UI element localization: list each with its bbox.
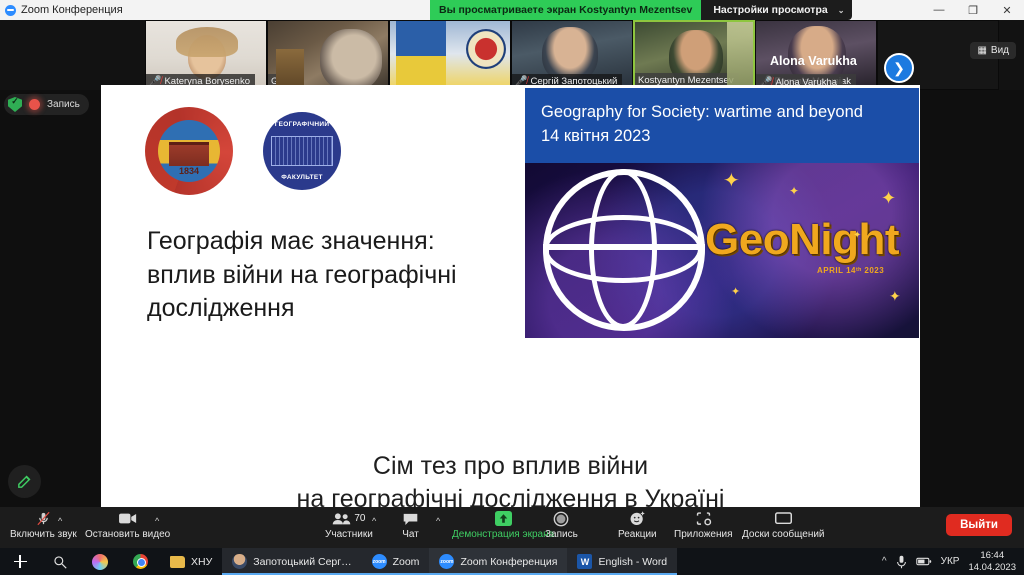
faculty-building-icon bbox=[271, 136, 333, 166]
video-thumbnail[interactable]: GEO bbox=[267, 20, 389, 90]
toolbar-button-reactions[interactable]: Реакции bbox=[618, 510, 657, 540]
window-controls: — ❐ ✕ bbox=[922, 0, 1024, 20]
video-thumbnail[interactable] bbox=[389, 20, 511, 90]
toolbar-button-mute[interactable]: Включить звук bbox=[10, 510, 77, 540]
participants-icon: 70 bbox=[332, 510, 365, 527]
clock-time: 16:44 bbox=[968, 550, 1016, 561]
tray-expand-chevron-icon[interactable]: ^ bbox=[882, 556, 887, 567]
toolbar-label-share-screen: Демонстрация экрана bbox=[452, 529, 554, 540]
taskbar-item-label: Zoom Конференция bbox=[460, 556, 557, 568]
chat-options-caret[interactable]: ^ bbox=[436, 516, 440, 526]
slide-subtitle: Сім тез про вплив війни на географічні д… bbox=[101, 450, 920, 507]
toolbar-label-video: Остановить видео bbox=[85, 529, 170, 540]
microphone-icon[interactable] bbox=[896, 555, 907, 569]
zoom-icon: zoom bbox=[439, 554, 454, 569]
screen-share-notification-bar: Вы просматриваете экран Kostyantyn Mezen… bbox=[430, 0, 852, 20]
whiteboard-icon bbox=[774, 510, 793, 527]
system-tray: ^ УКР 16:44 14.04.2023 bbox=[882, 548, 1024, 575]
titlebar-left: Zoom Конференция bbox=[0, 4, 123, 16]
toolbar-button-participants[interactable]: 70 Участники bbox=[325, 510, 373, 540]
taskbar-item-label: Запотоцький Серг… bbox=[253, 556, 351, 568]
taskbar-search-button[interactable] bbox=[40, 548, 80, 575]
slide-title: Географія має значення: вплив війни на г… bbox=[147, 225, 547, 326]
toolbar-button-record[interactable]: Запись bbox=[545, 510, 578, 540]
taskbar-item-chrome-window[interactable]: Запотоцький Серг… bbox=[222, 548, 361, 575]
mute-options-caret[interactable]: ^ bbox=[58, 516, 62, 526]
view-layout-label: Вид bbox=[991, 45, 1009, 56]
grid-view-icon: ▦ bbox=[977, 45, 986, 56]
taskbar-item-label: English - Word bbox=[598, 556, 667, 568]
taskbar-item-zoom-meeting[interactable]: zoom Zoom Конференция bbox=[429, 548, 567, 575]
video-camera-icon bbox=[118, 510, 138, 527]
banner-heading: Geography for Society: wartime and beyon… bbox=[525, 88, 919, 149]
taskbar-item-folder[interactable]: ХНУ bbox=[160, 548, 222, 575]
zoom-icon bbox=[5, 5, 16, 16]
star-icon: ✦ bbox=[881, 189, 896, 207]
view-options-label: Настройки просмотра bbox=[713, 4, 827, 16]
taskbar-item-word[interactable]: W English - Word bbox=[567, 548, 677, 575]
university-year: 1834 bbox=[158, 166, 220, 176]
video-thumbnail[interactable]: 🎤̸ Kateryna Borysenko bbox=[145, 20, 267, 90]
geonight-artwork: GeoNight APRIL 14ᵗʰ 2023 ✦ ✦ ✦ ✦ ✦ ✦ bbox=[525, 163, 919, 338]
taskbar-item-zoom[interactable]: zoom Zoom bbox=[362, 548, 430, 575]
video-thumbnail[interactable]: 🎤̸ Сергій Запотоцький bbox=[511, 20, 633, 90]
zoom-meeting-window: Zoom Конференция — ❐ ✕ Вы просматриваете… bbox=[0, 0, 1024, 575]
toolbar-button-whiteboards[interactable]: Доски сообщений bbox=[742, 510, 825, 540]
chrome-icon bbox=[133, 554, 148, 569]
apps-icon bbox=[695, 510, 712, 527]
star-icon: ✦ bbox=[731, 287, 740, 298]
taskbar-item-label: ХНУ bbox=[191, 556, 212, 568]
annotate-button[interactable] bbox=[8, 465, 41, 498]
slide-logos: 1834 ГЕОГРАФІЧНИЙ ФАКУЛЬТЕТ bbox=[145, 107, 341, 195]
meeting-toolbar: Включить звук ^ Остановить видео ^ 70 bbox=[0, 507, 1024, 548]
word-icon: W bbox=[577, 554, 592, 569]
star-icon: ✦ bbox=[723, 171, 740, 191]
windows-start-icon bbox=[14, 555, 27, 568]
toolbar-label-whiteboards: Доски сообщений bbox=[742, 529, 825, 540]
window-title: Zoom Конференция bbox=[21, 4, 123, 16]
record-dot-icon bbox=[29, 99, 40, 110]
globe-icon bbox=[543, 169, 705, 331]
faculty-top-text: ГЕОГРАФІЧНИЙ bbox=[275, 121, 330, 128]
toolbar-button-apps[interactable]: Приложения bbox=[674, 510, 733, 540]
geonight-date: APRIL 14ᵗʰ 2023 bbox=[817, 266, 884, 275]
participants-options-caret[interactable]: ^ bbox=[372, 516, 376, 526]
toolbar-button-chat[interactable]: Чат bbox=[402, 510, 419, 540]
windows-start-button[interactable] bbox=[0, 548, 40, 575]
taskbar-clock[interactable]: 16:44 14.04.2023 bbox=[968, 550, 1016, 572]
tray-language[interactable]: УКР bbox=[941, 556, 960, 567]
toolbar-label-apps: Приложения bbox=[674, 529, 733, 540]
share-screen-icon bbox=[494, 510, 513, 527]
participant-video-strip: 🎤̸ Kateryna Borysenko GEO 🎤̸ Сергій Запо… bbox=[0, 20, 1024, 90]
recording-label: Запись bbox=[47, 99, 80, 110]
toolbar-label-mute: Включить звук bbox=[10, 529, 77, 540]
shield-check-icon bbox=[8, 97, 22, 112]
windows-taskbar: ХНУ Запотоцький Серг… zoom Zoom zoom Zoo… bbox=[0, 548, 1024, 575]
star-icon: ✦ bbox=[889, 289, 901, 303]
video-options-caret[interactable]: ^ bbox=[155, 516, 159, 526]
close-button[interactable]: ✕ bbox=[990, 0, 1024, 20]
faculty-bottom-text: ФАКУЛЬТЕТ bbox=[281, 174, 323, 181]
folder-icon bbox=[170, 556, 185, 568]
pencil-icon bbox=[16, 473, 33, 490]
minimize-button[interactable]: — bbox=[922, 0, 956, 20]
video-thumbnail-active-speaker[interactable]: Kostyantyn Mezentsev bbox=[633, 20, 755, 90]
recording-indicator[interactable]: Запись bbox=[4, 94, 89, 115]
toolbar-label-record: Запись bbox=[545, 529, 578, 540]
reactions-icon bbox=[629, 510, 646, 527]
participants-count: 70 bbox=[354, 513, 365, 524]
taskbar-paint-button[interactable] bbox=[80, 548, 120, 575]
university-building-icon bbox=[169, 142, 209, 166]
star-icon: ✦ bbox=[853, 231, 861, 241]
taskbar-chrome-button[interactable] bbox=[120, 548, 160, 575]
next-participants-button[interactable]: ❯ bbox=[884, 53, 914, 83]
chrome-icon bbox=[232, 554, 247, 569]
search-icon bbox=[53, 555, 67, 569]
geonight-wordmark: GeoNight bbox=[705, 215, 899, 265]
paint-icon bbox=[92, 554, 108, 570]
maximize-button[interactable]: ❐ bbox=[956, 0, 990, 20]
leave-meeting-button[interactable]: Выйти bbox=[946, 514, 1012, 536]
toolbar-button-share-screen[interactable]: Демонстрация экрана bbox=[452, 510, 554, 540]
viewing-screen-label: Вы просматриваете экран Kostyantyn Mezen… bbox=[430, 0, 701, 20]
kyiv-national-university-logo: 1834 bbox=[145, 107, 233, 195]
toolbar-label-reactions: Реакции bbox=[618, 529, 657, 540]
toolbar-label-chat: Чат bbox=[402, 529, 419, 540]
geonight-banner: Geography for Society: wartime and beyon… bbox=[525, 88, 919, 338]
video-thumbnail-list: 🎤̸ Kateryna Borysenko GEO 🎤̸ Сергій Запо… bbox=[145, 20, 999, 90]
shared-screen-slide[interactable]: 1834 ГЕОГРАФІЧНИЙ ФАКУЛЬТЕТ Географія ма… bbox=[101, 85, 920, 507]
globe-equator bbox=[543, 244, 705, 250]
geography-faculty-logo: ГЕОГРАФІЧНИЙ ФАКУЛЬТЕТ bbox=[263, 112, 341, 190]
star-icon: ✦ bbox=[789, 185, 799, 197]
record-circle-icon bbox=[553, 510, 569, 527]
university-crest: 1834 bbox=[158, 120, 220, 182]
view-options-button[interactable]: Настройки просмотра ⌄ bbox=[701, 0, 852, 20]
chat-bubble-icon bbox=[402, 510, 419, 527]
microphone-muted-icon bbox=[36, 510, 51, 527]
chevron-right-icon: ❯ bbox=[893, 60, 905, 77]
active-speaker-name: Alona Varukha bbox=[770, 54, 857, 68]
battery-icon[interactable] bbox=[916, 556, 932, 567]
clock-date: 14.04.2023 bbox=[968, 562, 1016, 573]
zoom-icon: zoom bbox=[372, 554, 387, 569]
chevron-down-icon: ⌄ bbox=[838, 6, 845, 15]
toolbar-label-participants: Участники bbox=[325, 529, 373, 540]
taskbar-item-label: Zoom bbox=[393, 556, 420, 568]
view-layout-button[interactable]: ▦ Вид bbox=[970, 42, 1016, 59]
